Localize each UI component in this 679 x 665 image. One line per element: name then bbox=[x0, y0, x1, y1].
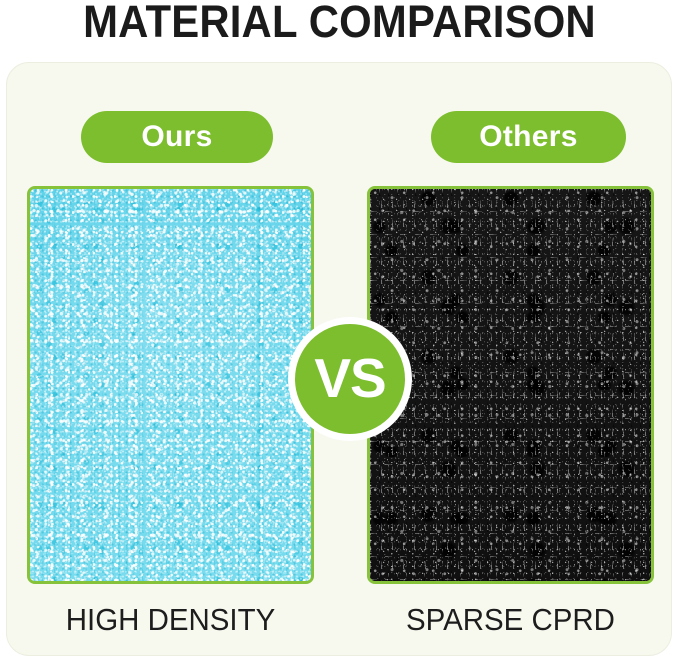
page-title: MATERIAL COMPARISON bbox=[24, 0, 655, 46]
vs-label: VS bbox=[314, 351, 385, 406]
ours-caption: HIGH DENSITY bbox=[34, 601, 307, 639]
others-pill-label: Others bbox=[431, 111, 626, 163]
vs-badge: VS bbox=[288, 317, 412, 441]
blue-fiber-texture bbox=[30, 189, 311, 581]
others-caption: SPARSE CPRD bbox=[374, 601, 647, 639]
material-comparison-infographic: MATERIAL COMPARISON Ours Others VS HIGH … bbox=[0, 0, 679, 665]
vs-badge-circle: VS bbox=[295, 324, 405, 434]
comparison-panel: Ours Others VS HIGH DENSITY SPARSE CPRD bbox=[6, 62, 672, 656]
ours-material-swatch bbox=[27, 186, 314, 584]
black-fiber-texture bbox=[370, 189, 651, 581]
ours-pill-label: Ours bbox=[81, 111, 273, 163]
